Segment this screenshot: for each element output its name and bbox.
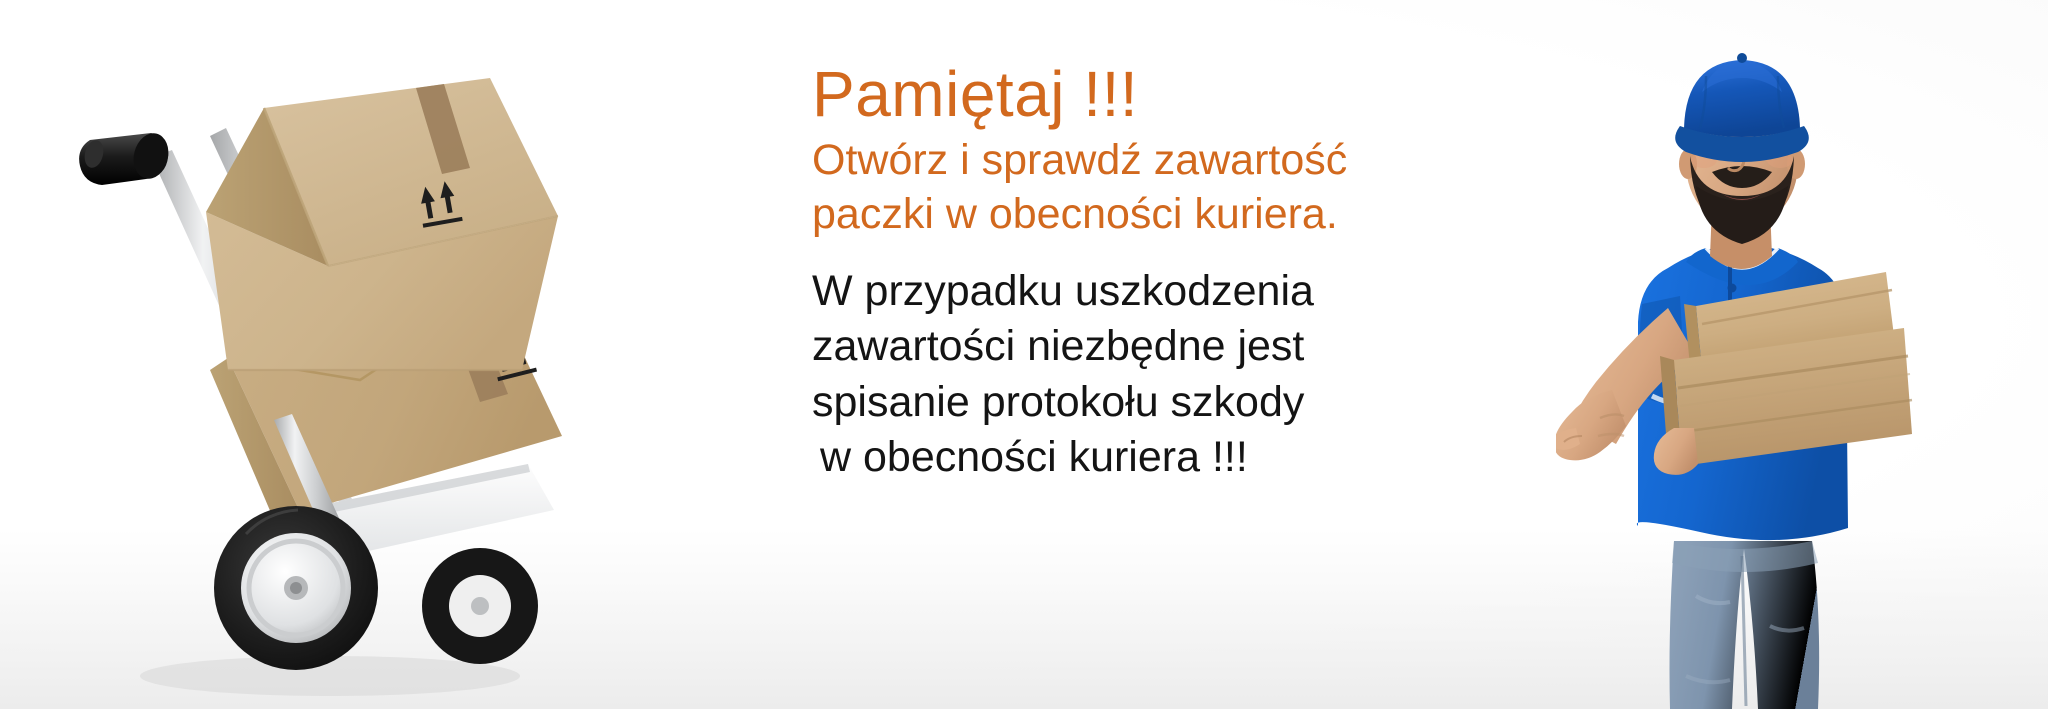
- highlight-line-1: Otwórz i sprawdź zawartość: [812, 133, 1432, 187]
- highlight-line-2: paczki w obecności kuriera.: [812, 187, 1432, 241]
- delivery-notice-banner: Pamiętaj !!! Otwórz i sprawdź zawartość …: [0, 0, 2048, 709]
- body-line-1: W przypadku uszkodzenia: [812, 264, 1432, 319]
- body-line-2: zawartości niezbędne jest: [812, 319, 1432, 374]
- handle-grip: [79, 130, 173, 185]
- courier-jeans: [1670, 541, 1820, 709]
- page-title: Pamiętaj !!!: [812, 62, 1432, 127]
- hand-truck-illustration: [60, 40, 620, 709]
- courier-svg: [1556, 36, 1976, 709]
- courier-cap: [1675, 53, 1809, 162]
- rear-wheel: [422, 548, 538, 664]
- body-line-4: w obecności kuriera !!!: [812, 430, 1432, 485]
- pointing-hand-icon: [1556, 390, 1626, 460]
- notice-text-block: Pamiętaj !!! Otwórz i sprawdź zawartość …: [812, 62, 1432, 485]
- courier-illustration: [1556, 36, 1976, 709]
- body-paragraph: W przypadku uszkodzenia zawartości niezb…: [812, 264, 1432, 486]
- hand-truck-svg: [60, 40, 620, 709]
- front-wheel: [214, 506, 378, 670]
- upper-cardboard-box: [206, 78, 558, 370]
- body-line-3: spisanie protokołu szkody: [812, 375, 1432, 430]
